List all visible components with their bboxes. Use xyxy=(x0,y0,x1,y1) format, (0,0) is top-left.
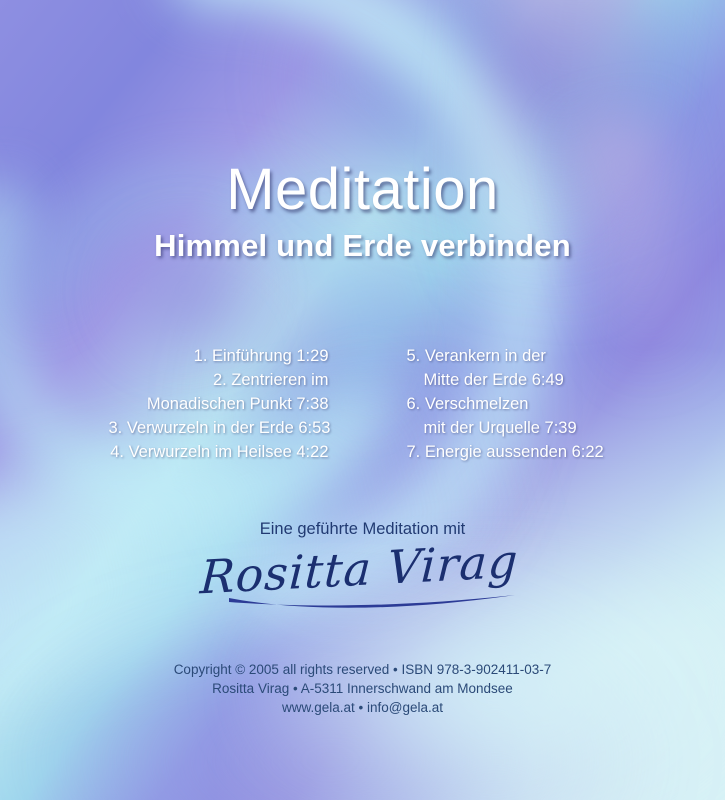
track-listing: 1. Einführung 1:29 2. Zentrieren im Mona… xyxy=(0,345,725,463)
byline: Eine geführte Meditation mit xyxy=(0,520,725,539)
track-line: Mitte der Erde 6:49 xyxy=(407,369,617,391)
track-line: 7. Energie aussenden 6:22 xyxy=(407,441,617,463)
signature-block: Rositta Virag xyxy=(0,542,725,612)
cover-content: Meditation Himmel und Erde verbinden 1. … xyxy=(0,0,725,800)
track-line: 3. Verwurzeln in der Erde 6:53 xyxy=(109,417,329,439)
track-column-left: 1. Einführung 1:29 2. Zentrieren im Mona… xyxy=(109,345,329,463)
footer-line-web: www.gela.at • info@gela.at xyxy=(0,698,725,717)
track-line: 6. Verschmelzen xyxy=(407,393,617,415)
track-line: mit der Urquelle 7:39 xyxy=(407,417,617,439)
track-column-right: 5. Verankern in der Mitte der Erde 6:49 … xyxy=(407,345,617,463)
track-line: 2. Zentrieren im xyxy=(109,369,329,391)
footer-line-address: Rositta Virag • A-5311 Innerschwand am M… xyxy=(0,679,725,698)
track-line: Monadischen Punkt 7:38 xyxy=(109,393,329,415)
track-line: 1. Einführung 1:29 xyxy=(109,345,329,367)
track-line: 4. Verwurzeln im Heilsee 4:22 xyxy=(109,441,329,463)
copyright-footer: Copyright © 2005 all rights reserved • I… xyxy=(0,660,725,717)
cd-cover: Meditation Himmel und Erde verbinden 1. … xyxy=(0,0,725,800)
cover-title: Meditation xyxy=(0,156,725,223)
track-line: 5. Verankern in der xyxy=(407,345,617,367)
cover-subtitle: Himmel und Erde verbinden xyxy=(0,228,725,264)
footer-line-copyright: Copyright © 2005 all rights reserved • I… xyxy=(0,660,725,679)
